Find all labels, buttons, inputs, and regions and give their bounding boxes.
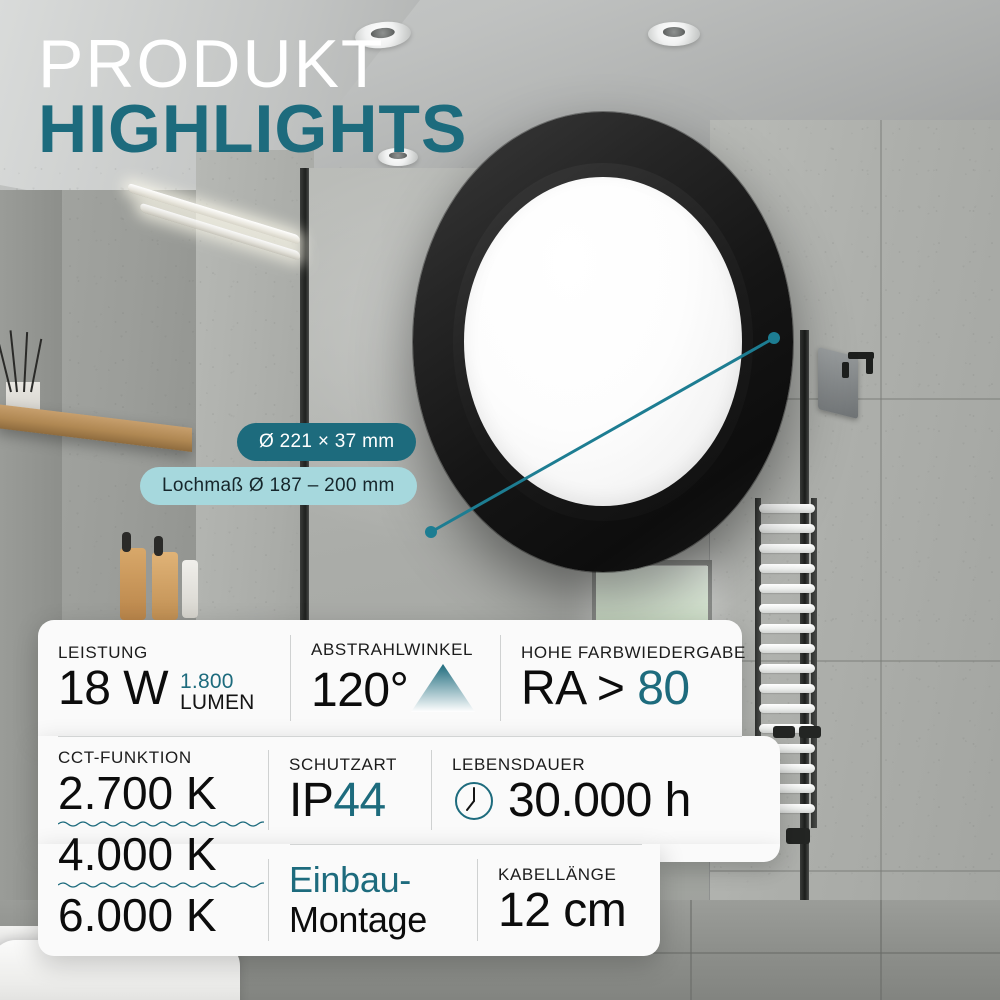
spec-leistung: LEISTUNG 18 W 1.800 LUMEN [38, 620, 290, 736]
product-led-panel [413, 112, 793, 572]
spec-value: 30.000 h [508, 777, 691, 826]
floor-grout-line [690, 900, 692, 1000]
montage-plain: Montage [289, 900, 457, 940]
spec-label: LEISTUNG [58, 643, 270, 663]
spec-cct-funktion: CCT-FUNKTION 2.700 K 4.000 K 6.000 K [58, 748, 264, 938]
radiator-bar [759, 644, 815, 653]
spec-kabellaenge: KABELLÄNGE 12 cm [478, 844, 658, 956]
spec-value-accent: 80 [637, 662, 689, 715]
lumen-unit: LUMEN [180, 692, 255, 713]
headline-line-2: HIGHLIGHTS [38, 95, 467, 164]
spec-label: LEBENSDAUER [452, 755, 760, 775]
headline-line-1: PRODUKT [38, 30, 467, 99]
lumen-number: 1.800 [180, 671, 234, 692]
page-title: PRODUKT HIGHLIGHTS [38, 30, 467, 165]
soap-pump-icon [154, 536, 163, 556]
toothbrush-cup [182, 560, 198, 618]
clock-icon [452, 779, 496, 823]
wall-grout-line [710, 660, 1000, 662]
spec-lebensdauer: LEBENSDAUER 30.000 h [432, 736, 780, 844]
card-corner-filler [660, 844, 780, 862]
spec-farbwiedergabe: HOHE FARBWIEDERGABE RA > 80 [501, 620, 741, 736]
soap-bottle [120, 548, 146, 620]
cct-value: 2.700 K [58, 770, 264, 816]
cct-value: 6.000 K [58, 892, 264, 938]
radiator-bar [759, 664, 815, 673]
wall-grout-line [880, 120, 882, 920]
spec-value-prefix: RA > [521, 662, 637, 715]
spec-montageart: Einbau- Montage [269, 844, 477, 956]
cct-value: 4.000 K [58, 831, 264, 877]
lumen-group: 1.800 LUMEN [180, 671, 255, 714]
spec-card-top: LEISTUNG 18 W 1.800 LUMEN ABSTRAHLWINKEL… [38, 620, 742, 736]
radiator-bar [759, 684, 815, 693]
spec-label: KABELLÄNGE [498, 865, 638, 885]
spec-label: CCT-FUNKTION [58, 748, 264, 768]
beam-cone-icon [410, 662, 476, 714]
spec-schutzart: SCHUTZART IP44 [269, 736, 431, 844]
montage-accent: Einbau- [289, 860, 457, 900]
hole-size-badge: Lochmaß Ø 187 – 200 mm [140, 467, 417, 505]
radiator-valve [786, 828, 810, 844]
radiator-valve [799, 726, 821, 738]
radiator-bar [759, 604, 815, 613]
floor-grout-line [880, 900, 882, 1000]
spec-value-prefix: IP [289, 774, 333, 827]
dimension-badge: Ø 221 × 37 mm [237, 423, 416, 461]
towel-hook-icon [866, 352, 873, 374]
wall-grout-line [710, 870, 1000, 872]
spec-value-accent: 44 [333, 774, 385, 827]
spec-label: ABSTRAHLWINKEL [311, 640, 480, 660]
radiator-bar [759, 584, 815, 593]
diameter-measure-line [413, 112, 793, 572]
soap-pump-icon [122, 532, 131, 552]
recessed-spotlight-icon [648, 22, 700, 46]
soap-bottle [152, 552, 178, 620]
spec-label: HOHE FARBWIEDERGABE [521, 643, 721, 663]
towel-hook-icon [842, 362, 849, 378]
radiator-bar [759, 624, 815, 633]
card-band-divider [58, 736, 742, 737]
spec-abstrahlwinkel: ABSTRAHLWINKEL 120° [291, 620, 500, 736]
card-band-divider [290, 844, 642, 845]
spec-value: 18 W [58, 665, 168, 714]
radiator-bar [759, 704, 815, 713]
spec-label: SCHUTZART [289, 755, 411, 775]
spec-value: 12 cm [498, 887, 638, 936]
spec-value: 120° [311, 667, 408, 716]
